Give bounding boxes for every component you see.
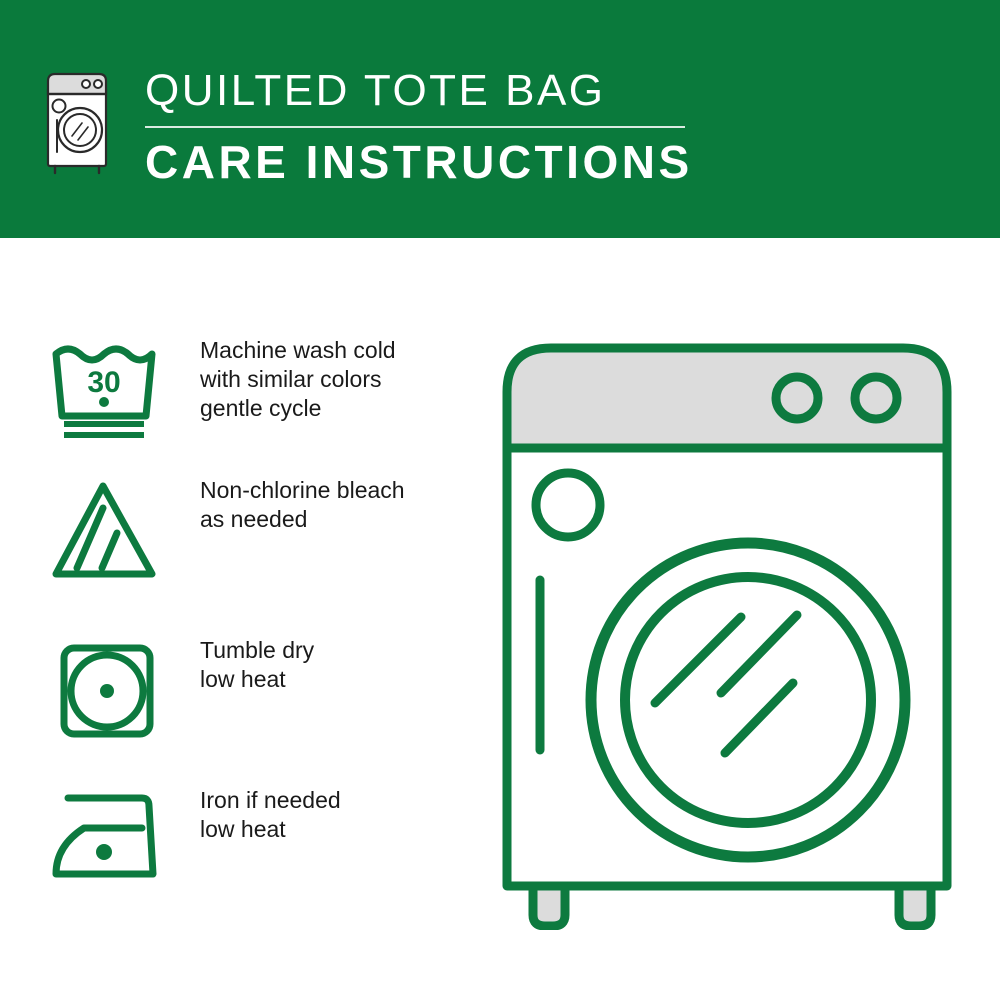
header-title-block: QUILTED TOTE BAG CARE INSTRUCTIONS xyxy=(145,64,705,190)
care-item-label: Non-chlorine bleach as needed xyxy=(200,476,480,534)
tumble-dry-low-heat-symbol xyxy=(50,638,170,742)
care-label-line: with similar colors xyxy=(200,365,480,394)
care-label-line: Machine wash cold xyxy=(200,336,480,365)
detergent-dispenser xyxy=(536,473,600,537)
wash-temperature-label: 30 xyxy=(87,366,120,399)
care-label-line: low heat xyxy=(200,665,480,694)
care-label-line: low heat xyxy=(200,815,480,844)
page-title: CARE INSTRUCTIONS xyxy=(145,134,705,190)
care-item-machine-wash: 30 Machine wash cold with similar colors… xyxy=(0,338,480,458)
care-instructions-infographic: QUILTED TOTE BAG CARE INSTRUCTIONS 30 xyxy=(0,0,1000,1000)
leg-left xyxy=(533,886,565,926)
care-item-bleach: Non-chlorine bleach as needed xyxy=(0,478,480,598)
leg-right xyxy=(899,886,931,926)
front-load-washing-machine-illustration xyxy=(495,330,975,930)
care-item-label: Machine wash cold with similar colors ge… xyxy=(200,336,480,423)
care-instructions-list: 30 Machine wash cold with similar colors… xyxy=(0,238,480,1000)
care-label-line: Iron if needed xyxy=(200,786,480,815)
care-item-iron: Iron if needed low heat xyxy=(0,788,480,908)
title-divider xyxy=(145,126,685,128)
knob-right xyxy=(855,377,897,419)
care-label-line: Non-chlorine bleach xyxy=(200,476,480,505)
care-label-line: Tumble dry xyxy=(200,636,480,665)
care-label-line: as needed xyxy=(200,505,480,534)
care-label-line: gentle cycle xyxy=(200,394,480,423)
low-heat-dot xyxy=(96,844,112,860)
low-heat-dot xyxy=(100,684,114,698)
washing-machine-icon xyxy=(44,68,110,176)
care-item-label: Tumble dry low heat xyxy=(200,636,480,694)
header-banner: QUILTED TOTE BAG CARE INSTRUCTIONS xyxy=(0,0,1000,238)
care-item-label: Iron if needed low heat xyxy=(200,786,480,844)
care-item-tumble-dry: Tumble dry low heat xyxy=(0,638,480,758)
iron-low-heat-symbol xyxy=(50,788,170,892)
knob-left xyxy=(776,377,818,419)
machine-wash-30-gentle-symbol: 30 xyxy=(50,338,170,442)
gentle-cycle-dot xyxy=(99,397,109,407)
product-title: QUILTED TOTE BAG xyxy=(145,64,705,118)
non-chlorine-bleach-symbol xyxy=(50,478,170,582)
